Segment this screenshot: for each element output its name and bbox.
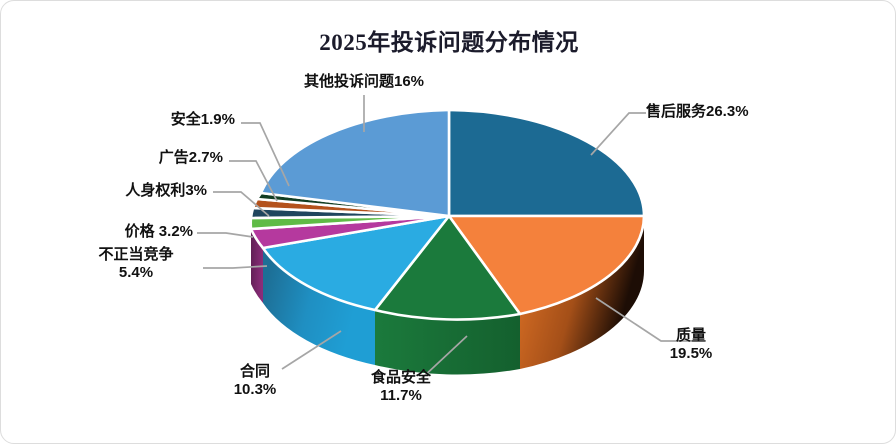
data-label-advertising: 广告2.7% [83,149,223,167]
data-label-after-sales-text: 售后服务26.3% [646,103,749,120]
leader-line-price [197,233,253,237]
data-label-food-safety-name: 食品安全 [341,369,461,387]
data-label-price: 价格 3.2% [63,223,193,241]
data-label-after-sales: 售后服务26.3% [646,103,749,121]
data-label-other: 其他投诉问题16% [274,73,454,91]
data-label-unfair-competition: 不正当竞争 5.4% [69,246,203,283]
data-label-personal-rights-text: 人身权利3% [125,182,207,199]
pie-chart-card: 2025年投诉问题分布情况 [0,0,896,444]
pie-top-face [251,110,644,320]
data-label-personal-rights: 人身权利3% [63,182,207,200]
data-label-food-safety: 食品安全 11.7% [341,369,461,406]
data-label-quality: 质量 19.5% [637,327,745,364]
data-label-price-text: 价格 3.2% [125,223,193,240]
data-label-contract: 合同 10.3% [197,363,313,400]
data-label-quality-pct: 19.5% [637,345,745,363]
data-label-unfair-competition-name: 不正当竞争 [69,246,203,264]
data-label-advertising-text: 广告2.7% [159,149,223,166]
data-label-food-safety-pct: 11.7% [341,387,461,405]
data-label-safety: 安全1.9% [95,111,235,129]
data-label-contract-pct: 10.3% [197,381,313,399]
data-label-other-text: 其他投诉问题16% [304,73,424,90]
data-label-safety-text: 安全1.9% [171,111,235,128]
data-label-contract-name: 合同 [197,363,313,381]
data-label-unfair-competition-pct: 5.4% [69,264,203,282]
data-label-quality-name: 质量 [637,327,745,345]
pie-slice-after-sales[interactable] [449,110,644,216]
